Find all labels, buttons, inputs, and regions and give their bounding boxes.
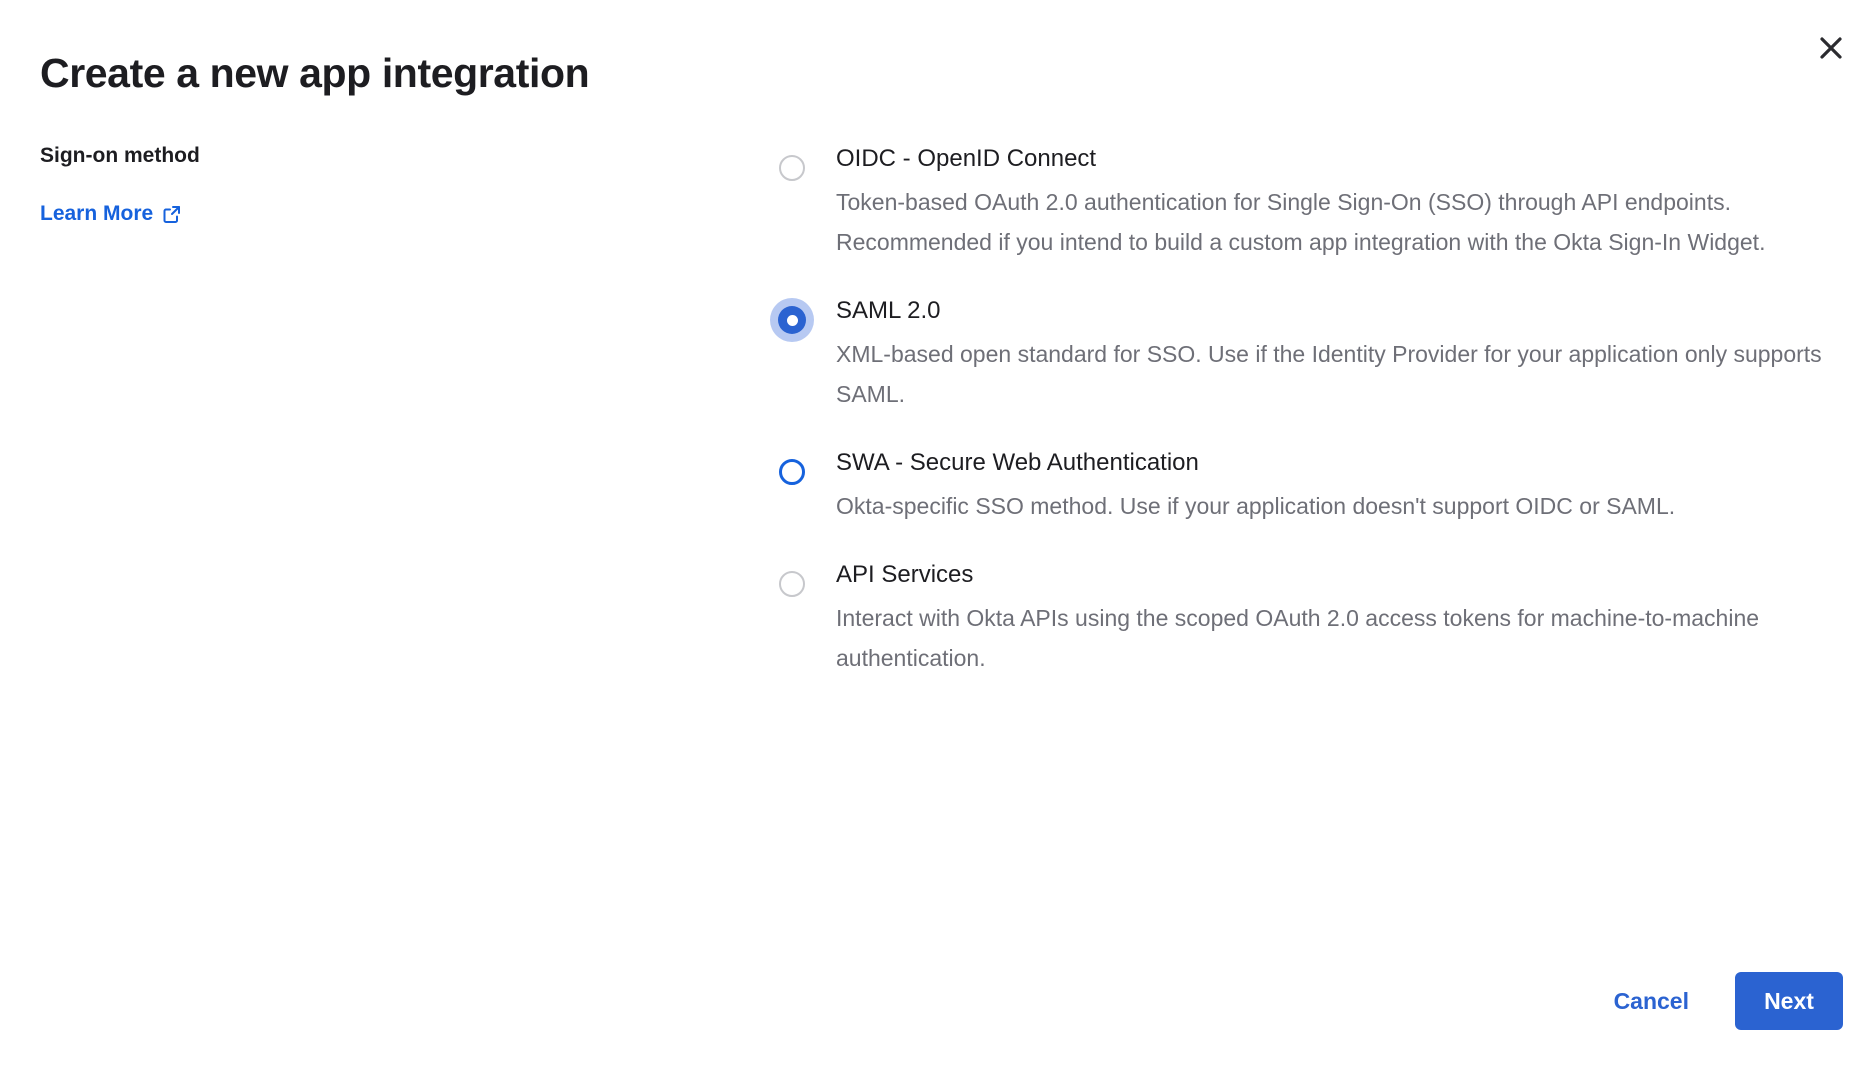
radio-api-services[interactable] [770,562,814,606]
page-title: Create a new app integration [40,45,589,101]
close-icon [1818,35,1844,61]
sign-on-method-options: OIDC - OpenID Connect Token-based OAuth … [770,142,1835,678]
radio-oidc[interactable] [770,146,814,190]
option-label: SWA - Secure Web Authentication [836,446,1835,480]
sign-on-method-sidebar: Sign-on method Learn More [40,142,640,228]
cancel-button[interactable]: Cancel [1614,988,1689,1015]
option-description: Token-based OAuth 2.0 authentication for… [836,182,1835,262]
option-label: API Services [836,558,1835,592]
option-api-services[interactable]: API Services Interact with Okta APIs usi… [770,558,1835,678]
external-link-icon [162,204,182,224]
option-description: XML-based open standard for SSO. Use if … [836,334,1835,414]
learn-more-label: Learn More [40,200,153,228]
learn-more-link[interactable]: Learn More [40,200,182,228]
radio-swa[interactable] [770,450,814,494]
option-description: Okta-specific SSO method. Use if your ap… [836,486,1835,526]
option-saml[interactable]: SAML 2.0 XML-based open standard for SSO… [770,294,1835,414]
modal-footer: Cancel Next [1614,972,1843,1030]
option-swa[interactable]: SWA - Secure Web Authentication Okta-spe… [770,446,1835,526]
option-description: Interact with Okta APIs using the scoped… [836,598,1835,678]
close-button[interactable] [1807,24,1855,72]
next-button[interactable]: Next [1735,972,1843,1030]
option-label: SAML 2.0 [836,294,1835,328]
radio-saml[interactable] [770,298,814,342]
sign-on-method-label: Sign-on method [40,142,640,170]
option-label: OIDC - OpenID Connect [836,142,1835,176]
option-oidc[interactable]: OIDC - OpenID Connect Token-based OAuth … [770,142,1835,262]
